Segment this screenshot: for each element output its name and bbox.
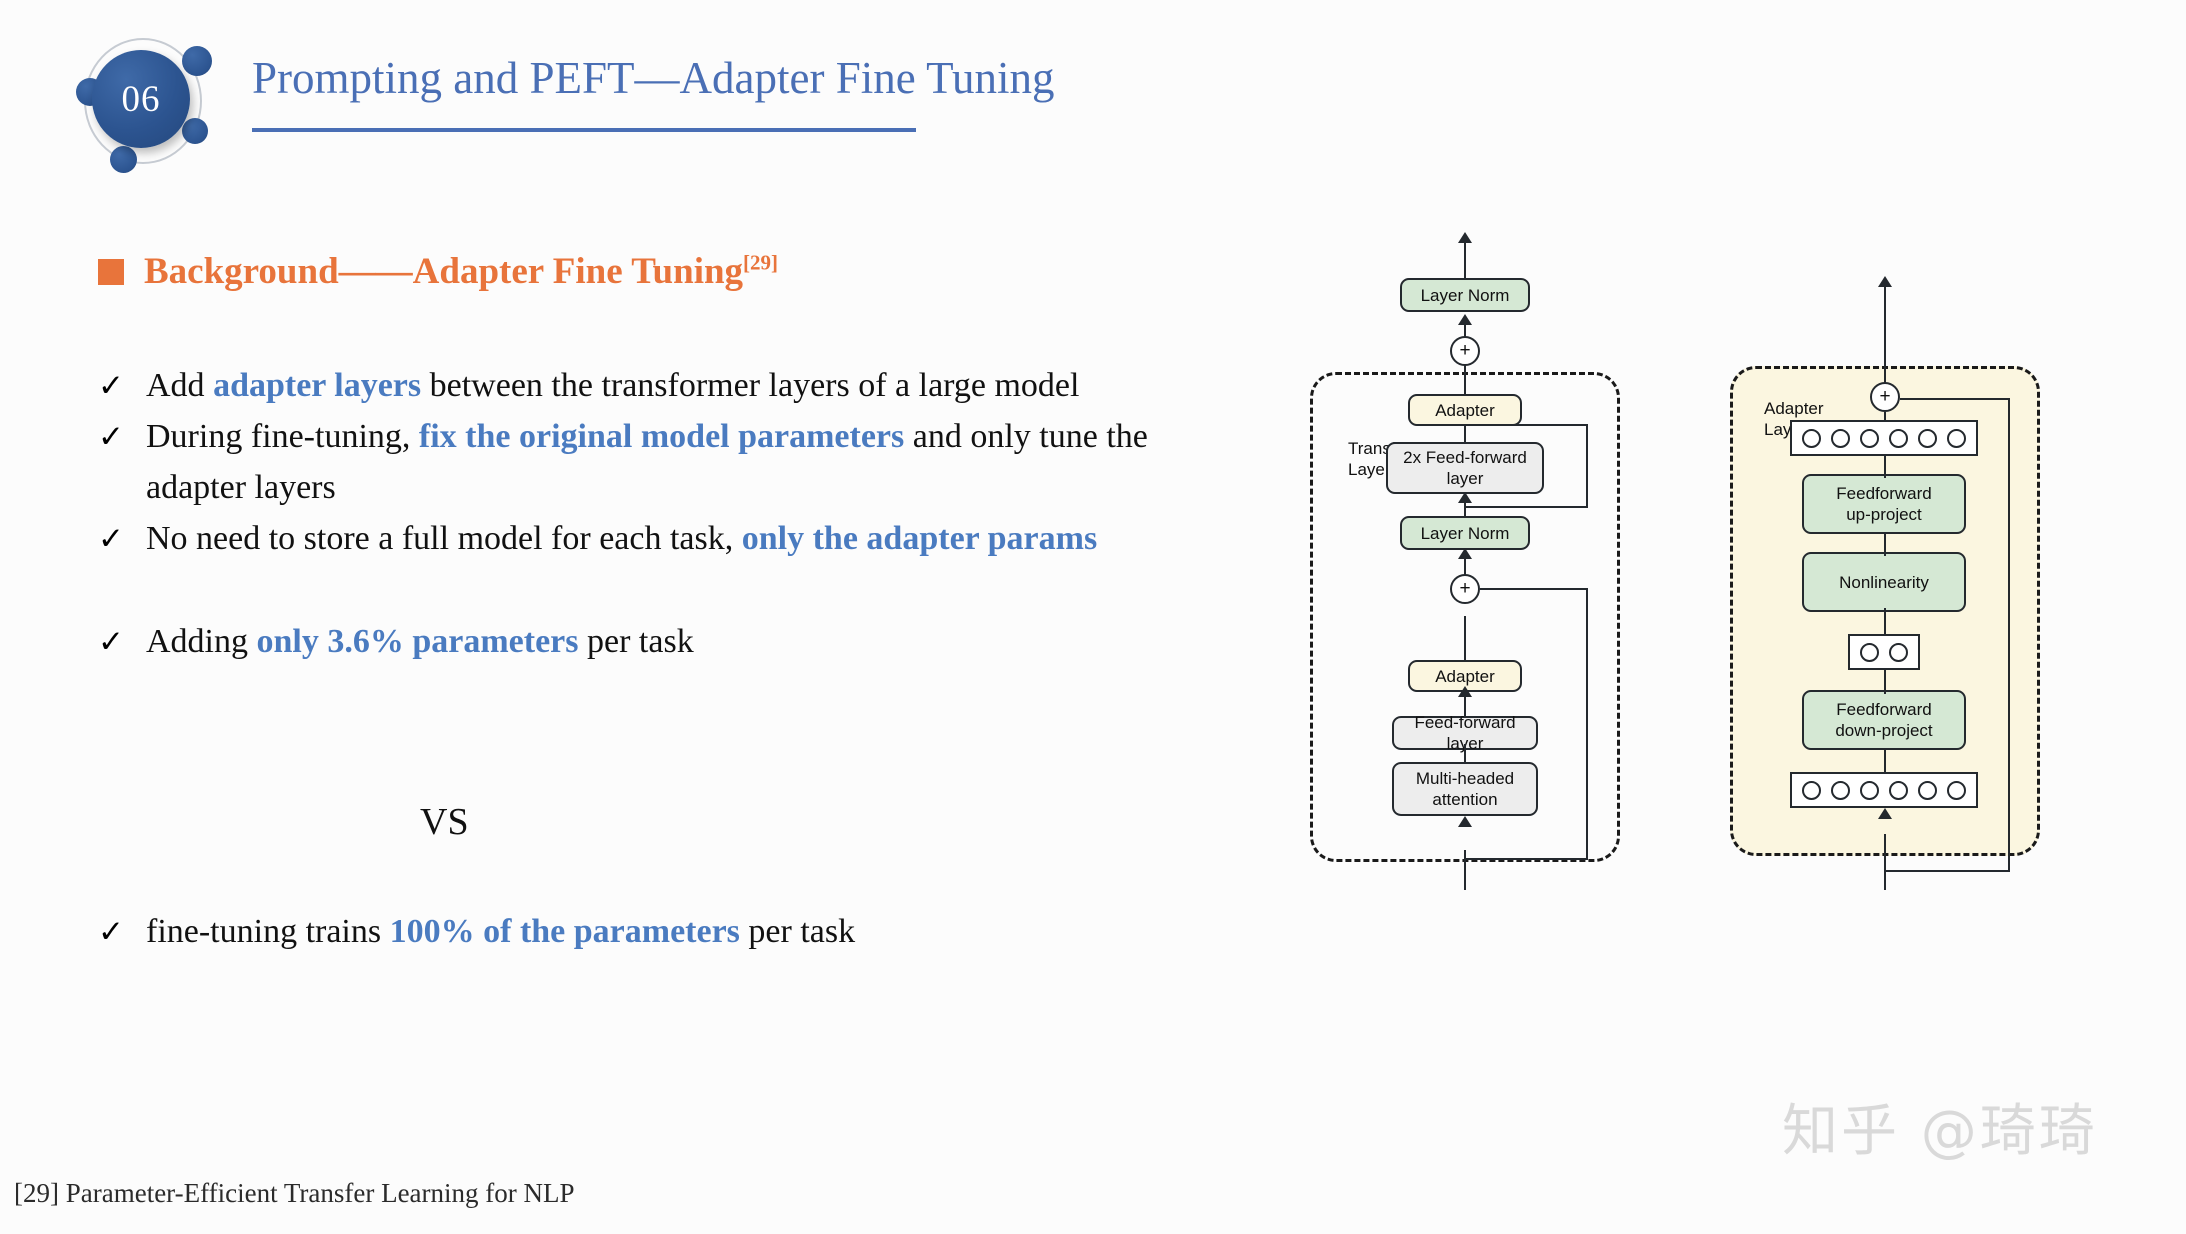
list-item-text: No need to store a full model for each t… [146, 513, 1218, 564]
checkmark-icon: ✓ [98, 411, 146, 462]
node-residual-add-upper: + [1450, 336, 1480, 366]
footer-reference: [29] Parameter-Efficient Transfer Learni… [14, 1178, 575, 1209]
unit-circle-icon [1918, 429, 1937, 448]
vs-label: VS [420, 800, 469, 844]
list-item-text: During fine-tuning, fix the original mod… [146, 411, 1218, 513]
node-feedforward-up-project: Feedforward up-project [1802, 474, 1966, 534]
section-heading: Background——Adapter Fine Tuning[29] [98, 250, 778, 293]
connector-output-transformer [1464, 238, 1466, 280]
node-multi-headed-attention: Multi-headed attention [1392, 762, 1538, 816]
square-bullet-icon [98, 259, 124, 285]
list-item: ✓ fine-tuning trains 100% of the paramet… [98, 906, 1218, 957]
connector-skip-upper-h-top [1480, 424, 1588, 426]
unit-circle-icon [1860, 643, 1879, 662]
architecture-diagram: Transformer Layer Multi-headed attention… [1290, 320, 2090, 900]
connector-input-adapter [1884, 834, 1886, 890]
bullet-segment-highlight: only 3.6% parameters [257, 623, 579, 660]
arrowhead-plus-to-layernorm-lower [1458, 548, 1472, 559]
bullet-segment-plain: per task [579, 623, 694, 660]
list-item-text: fine-tuning trains 100% of the parameter… [146, 906, 1218, 957]
checkmark-icon: ✓ [98, 513, 146, 564]
section-heading-label: Background——Adapter Fine Tuning [144, 251, 743, 292]
unit-circle-icon [1831, 429, 1850, 448]
unit-circle-icon [1831, 781, 1850, 800]
connector-adapter-skip-h-top [1900, 398, 2010, 400]
adapter-output-units-row [1790, 420, 1978, 456]
unit-circle-icon [1889, 643, 1908, 662]
connector-skip-lower-h-top [1480, 588, 1588, 590]
unit-circle-icon [1889, 429, 1908, 448]
unit-circle-icon [1947, 429, 1966, 448]
list-item: ✓ Adding only 3.6% parameters per task [98, 616, 1218, 667]
bullet-list-secondary: ✓ fine-tuning trains 100% of the paramet… [98, 906, 1218, 957]
unit-circle-icon [1947, 781, 1966, 800]
connector-ff2x-to-adapter-upper [1464, 424, 1466, 444]
section-heading-text: Background——Adapter Fine Tuning[29] [144, 250, 778, 293]
bullet-list: ✓ Add adapter layers between the transfo… [98, 360, 1218, 667]
arrowhead-input-transformer [1458, 816, 1472, 827]
list-item-text: Adding only 3.6% parameters per task [146, 616, 1218, 667]
arrowhead-plus-to-layernorm-top [1458, 314, 1472, 325]
unit-circle-icon [1860, 429, 1879, 448]
connector-skip-lower-v [1586, 588, 1588, 860]
unit-circle-icon [1889, 781, 1908, 800]
unit-circle-icon [1860, 781, 1879, 800]
node-nonlinearity: Nonlinearity [1802, 552, 1966, 612]
checkmark-icon: ✓ [98, 360, 146, 411]
checkmark-icon: ✓ [98, 906, 146, 957]
bullet-segment-plain: Adding [146, 623, 257, 660]
adapter-input-units-row [1790, 772, 1978, 808]
unit-circle-icon [1802, 429, 1821, 448]
bullet-segment-plain: No need to store a full model for each t… [146, 520, 742, 557]
connector-nonlinearity-to-upproject [1884, 532, 1886, 556]
unit-circle-icon [1802, 781, 1821, 800]
node-layer-norm-lower: Layer Norm [1400, 516, 1530, 550]
connector-adapter-to-plus-upper [1464, 364, 1466, 396]
connector-input-transformer [1464, 850, 1466, 890]
node-layer-norm-top: Layer Norm [1400, 278, 1530, 312]
bullet-segment-plain: per task [740, 913, 855, 950]
connector-skip-lower-h-bottom [1464, 858, 1588, 860]
list-item: ✓ During fine-tuning, fix the original m… [98, 411, 1218, 513]
arrowhead-input-adapter [1878, 808, 1892, 819]
content-left-column: Background——Adapter Fine Tuning[29] ✓ Ad… [0, 0, 1270, 1234]
bullet-segment-highlight: 100% of the parameters [390, 913, 740, 950]
bullet-segment-highlight: only the adapter params [742, 520, 1097, 557]
connector-adapter-skip-h-bottom [1884, 870, 2010, 872]
watermark: 知乎 @琦琦 [1782, 1086, 2098, 1167]
list-item-text: Add adapter layers between the transform… [146, 360, 1218, 411]
connector-skip-upper-v [1586, 424, 1588, 508]
connector-skip-upper-h-bottom [1464, 506, 1588, 508]
bullet-segment-highlight: fix the original model parameters [419, 418, 904, 455]
arrowhead-output-transformer [1458, 232, 1472, 243]
bullet-segment-plain: Add [146, 367, 213, 404]
arrowhead-ff-to-adapter-lower [1458, 686, 1472, 697]
arrowhead-layernorm-to-ff2x [1458, 492, 1472, 503]
connector-downproject-to-bottleneck [1884, 668, 1886, 694]
node-adapter-residual-add: + [1870, 382, 1900, 412]
connector-attn-to-ff [1464, 744, 1466, 764]
bullet-segment-plain: fine-tuning trains [146, 913, 390, 950]
list-item: ✓ Add adapter layers between the transfo… [98, 360, 1218, 411]
bullet-segment-highlight: adapter layers [213, 367, 421, 404]
node-feedforward-down-project: Feedforward down-project [1802, 690, 1966, 750]
arrowhead-output-adapter [1878, 276, 1892, 287]
bullet-segment-plain: between the transformer layers of a larg… [421, 367, 1079, 404]
node-residual-add-lower: + [1450, 574, 1480, 604]
node-adapter-upper: Adapter [1408, 394, 1522, 426]
connector-output-adapter [1884, 282, 1886, 384]
bullet-segment-plain: During fine-tuning, [146, 418, 419, 455]
connector-upproject-to-output-units [1884, 454, 1886, 478]
checkmark-icon: ✓ [98, 616, 146, 667]
section-heading-citation: [29] [743, 251, 778, 275]
connector-adapter-to-plus-lower [1464, 616, 1466, 662]
adapter-bottleneck-units-row [1848, 634, 1920, 670]
connector-adapter-skip-v [2008, 398, 2010, 872]
node-2x-feed-forward-layer: 2x Feed-forward layer [1386, 442, 1544, 494]
bullet-list-spacer [98, 564, 1218, 616]
list-item: ✓ No need to store a full model for each… [98, 513, 1218, 564]
unit-circle-icon [1918, 781, 1937, 800]
